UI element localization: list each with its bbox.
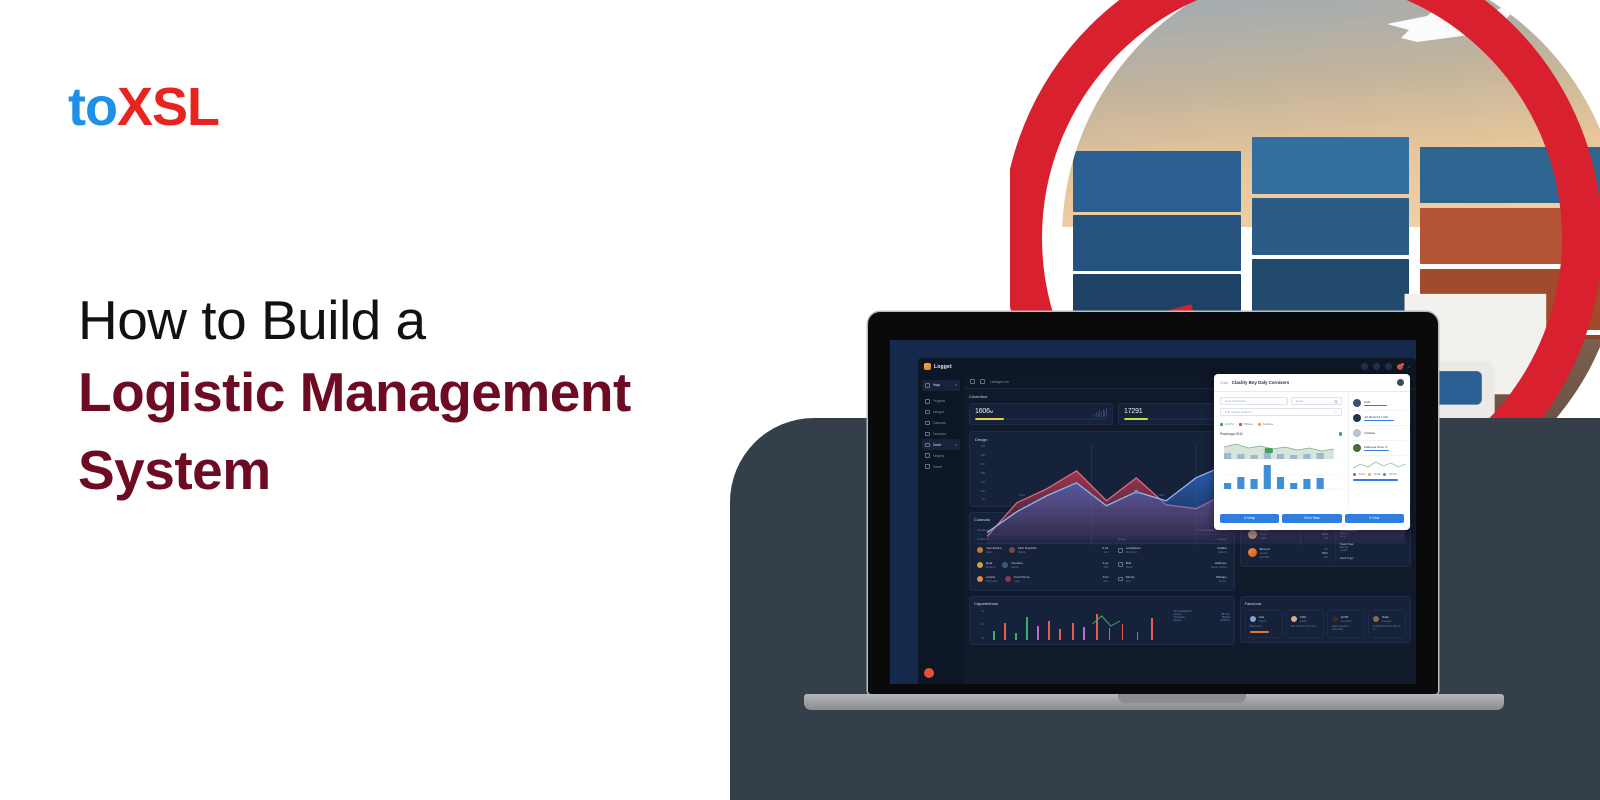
table-row[interactable]: Yani EcbineClanni Stub RrepOksPatrick 5.… — [974, 544, 1111, 558]
status-dot — [1383, 473, 1386, 476]
avatar — [1332, 616, 1338, 622]
sidebar-item-label: Survices — [933, 432, 947, 436]
row-primary: orrphle — [986, 575, 995, 579]
panel-body: Gonr dtorbsqus tomut — [1214, 392, 1410, 510]
avatar — [1353, 414, 1361, 422]
y-tick: 255 — [975, 472, 985, 475]
clarity-overlay-panel: Cnar Claclity Bny Daly Cornixers Gonr dt… — [1214, 374, 1410, 530]
logo-text-sl: SL — [152, 77, 219, 137]
table-row[interactable]: WonliyNtrn WritelpyPuvorn — [1115, 572, 1229, 586]
row-value: 74.0 — [1102, 575, 1108, 579]
heart-icon[interactable]: ♡ — [1333, 410, 1337, 415]
member-sub: Blaad-Dorte — [1250, 625, 1278, 628]
cost-right3: 100 — [1324, 556, 1328, 559]
team-title: Facctorar — [1245, 601, 1406, 606]
avatar — [977, 562, 983, 568]
mini-sparkline — [1353, 459, 1406, 471]
panel-main-column: Gonr dtorbsqus tomut — [1214, 392, 1348, 510]
y-tick: 100 — [975, 490, 985, 493]
row-value: 5.44 — [1102, 546, 1108, 550]
kpi-number: 17291 — [1124, 408, 1142, 415]
avatar — [1291, 616, 1297, 622]
chevron-down-icon: ▾ — [955, 383, 957, 387]
member-name: Ha4 — [1259, 615, 1265, 619]
candles-y-axis: 111411 — [974, 610, 984, 640]
app-name: Logget — [934, 364, 952, 370]
box-icon — [1118, 562, 1123, 567]
status-badge — [1339, 432, 1343, 436]
settings-icon[interactable] — [1373, 363, 1380, 370]
filter-input[interactable]: (c3) Guarty ombous ♡ — [1220, 408, 1342, 416]
clock-icon — [925, 421, 930, 426]
users-icon — [925, 453, 930, 458]
tag-label: Actsdes — [1263, 422, 1274, 426]
row-secondary: Ganri — [1014, 580, 1020, 583]
sidebar-item-keljans[interactable]: Keljans — [922, 450, 960, 461]
sidebar-item-label: Hoja — [933, 383, 940, 387]
team-member-card[interactable]: Cf3dAwalth Mac-Ofinctim Itvm Lota — [1286, 610, 1324, 638]
contact-name: Katbama Ovrer O — [1364, 445, 1388, 449]
row-primary: Stub RrepOks — [1018, 546, 1037, 550]
slide-canvas: toXSL How to Build a Logistic Management… — [0, 0, 1600, 800]
laptop-lid: Logget ▾ — [868, 312, 1438, 694]
panel-title: Claclity Bny Daly Cornixers — [1232, 380, 1289, 385]
candlestick-chart: 111411 — [974, 610, 1230, 640]
show-button[interactable]: Erhnl Stow — [1282, 514, 1341, 523]
avatar — [1373, 616, 1379, 622]
sidebar-item-prognat[interactable]: Prognat — [922, 396, 960, 407]
avatar — [977, 547, 983, 553]
list-item[interactable]: Llufs — [1353, 396, 1406, 411]
notification-badge — [1401, 363, 1404, 366]
tag-label: Prhote — [1244, 422, 1253, 426]
cost-title: Bloomd — [1260, 547, 1270, 551]
row-secondary: Patrick — [1018, 551, 1025, 554]
row-secondary: Pzig Lanan — [986, 580, 998, 583]
avatar — [1009, 547, 1015, 553]
laptop-screen: Logget ▾ — [890, 340, 1416, 684]
team-panel: Facctorar Ha4ruEOTi Blaad-Dorte — [1240, 596, 1411, 650]
kpi-suffix: M — [990, 409, 993, 414]
tag-row: An Pvi Prhote Actsdes — [1220, 419, 1342, 430]
avatar — [1250, 616, 1256, 622]
avatar — [977, 576, 983, 582]
row-primary: Yani Ecbine — [986, 546, 1002, 550]
row-value: Writelpy — [1216, 575, 1227, 579]
row-value-sub: Aoin — [1103, 580, 1108, 583]
breadcrumb[interactable]: Cnar — [1220, 381, 1228, 385]
x-tick: 2010 — [1089, 494, 1095, 501]
member-role: Gaougen — [1382, 620, 1392, 623]
panel-combo-chart — [1220, 439, 1342, 495]
kpi-number: 1606 — [975, 408, 990, 415]
avatar — [1002, 562, 1008, 568]
headline-line-1: How to Build a — [78, 288, 738, 353]
copy-icon[interactable] — [980, 379, 985, 384]
status-dot — [1368, 473, 1371, 476]
member-role: Geomorto — [1341, 620, 1352, 623]
kpi-card[interactable]: 1606M — [969, 403, 1113, 425]
box-icon — [1118, 548, 1123, 553]
status-dot — [1353, 473, 1356, 476]
record-button[interactable] — [924, 668, 934, 678]
row-value-sub: Puvorn — [1219, 580, 1227, 583]
row-primary: Litodlobarh — [1126, 546, 1141, 550]
bell-icon — [925, 464, 930, 469]
side-stat: Certi Cryp — [1340, 554, 1406, 562]
member-progress — [1250, 631, 1270, 633]
candles-trendline — [986, 610, 1170, 640]
panel-chart-plot — [1220, 439, 1342, 495]
panel-header: Cnar Claclity Bny Daly Cornixers — [1214, 374, 1410, 392]
mini-stat-label: 20.01 — [1389, 472, 1397, 476]
y-tick: 330 — [975, 463, 985, 466]
app-brand[interactable]: Logget — [924, 363, 952, 370]
sidebar-item-label: Owert — [933, 465, 943, 469]
home-icon — [925, 383, 930, 388]
sidebar-item-cansors[interactable]: Cansors — [922, 418, 960, 429]
candles-and-team-row: Caparetshars 111411 — [969, 596, 1411, 650]
y-tick: 225 — [975, 445, 985, 448]
panel-footer: A Vetup Erhnl Stow K Clow — [1214, 510, 1410, 527]
contact-name: Llufs — [1364, 400, 1370, 404]
team-member-card[interactable]: OdkeGaougen Eoddrblk Pwoorde Ottcorn np — [1368, 610, 1406, 638]
avatar — [1353, 399, 1361, 407]
dashboard-sidebar: Hoja ▾ Prognat Integra — [918, 375, 964, 684]
laptop-notch — [1118, 694, 1246, 703]
close-button[interactable]: K Clow — [1345, 514, 1404, 523]
app-logo-icon — [924, 363, 931, 370]
member-sub: Eoddrblk Pwoorde Ottcorn np — [1373, 625, 1401, 631]
avatar — [1353, 429, 1361, 437]
logistics-dashboard-app: Logget ▾ — [918, 358, 1416, 684]
table-row[interactable]: orrphlePzig Lanan Krrd ChrmaGanri 74.0Ao… — [974, 572, 1111, 586]
filter-placeholder: (c3) Guarty ombous — [1225, 410, 1252, 414]
sidebar-item-label: Prognat — [933, 399, 946, 403]
list-item[interactable]: Jof Mchorhs f 419 — [1353, 411, 1406, 426]
legend-value: 88 DOrt — [1221, 619, 1230, 622]
setup-button[interactable]: A Vetup — [1220, 514, 1279, 523]
member-role: ruEOTi — [1259, 620, 1266, 623]
side-stat-v2: Lurobbr — [1340, 549, 1406, 552]
sidebar-item-label: Drute — [933, 443, 942, 447]
headline-line-2: Logistic Management — [78, 353, 738, 431]
search-icon[interactable] — [1334, 400, 1338, 404]
row-secondary: Nynah — [1126, 566, 1133, 569]
x-tick: 0194 — [1019, 494, 1025, 501]
logo-text-x: X — [117, 77, 152, 137]
sidebar-item-label: Keljans — [933, 454, 945, 458]
row-value-sub: Dev — [1104, 551, 1108, 554]
laptop-mockup: Logget ▾ — [868, 312, 1438, 702]
mini-stat-label: 10% — [1359, 472, 1365, 476]
search-value: tomut — [1296, 399, 1304, 403]
sidebar-item-owert[interactable]: Owert — [922, 461, 960, 472]
box-icon — [1118, 577, 1123, 582]
chevron-down-icon[interactable]: ▾ — [1408, 365, 1410, 369]
member-role: Awalth — [1300, 620, 1307, 623]
row-value-sub: Vannen Jerkeg — [1211, 566, 1227, 569]
search-input[interactable]: Gonr dtorbsqus — [1220, 397, 1288, 405]
tag-item[interactable]: Actsdes — [1258, 422, 1274, 426]
cost-right2: 10% — [1322, 551, 1328, 555]
row-primary: Brid — [1126, 561, 1131, 565]
row-value: Citddta — [1217, 546, 1227, 550]
sidebar-item-hoja[interactable]: Hoja ▾ — [922, 380, 960, 391]
candlestick-panel: Caparetshars 111411 — [969, 596, 1235, 650]
member-sub: Lodhd Gatulbay Camparha — [1332, 625, 1360, 631]
row-primary: Dela — [986, 561, 992, 565]
kpi-progress-bar — [975, 418, 1107, 420]
sidebar-item-drute[interactable]: Drute ▾ — [922, 439, 960, 450]
print-icon[interactable] — [970, 379, 975, 384]
kpi-value: 1606M — [975, 408, 1107, 415]
row-value: 1.op — [1102, 561, 1108, 565]
sidebar-item-label: Integra — [933, 410, 944, 414]
tag-label: An Pvi — [1225, 422, 1234, 426]
row-secondary: Mrg Jorlen — [1126, 551, 1137, 554]
member-name: EV45 — [1341, 615, 1348, 619]
folder-icon — [925, 399, 930, 404]
chevron-down-icon: ▾ — [955, 443, 957, 447]
kpi-sparkline — [1094, 408, 1107, 417]
team-member-card[interactable]: Ha4ruEOTi Blaad-Dorte — [1245, 610, 1283, 638]
row-primary: Krrd Chrma — [1014, 575, 1030, 579]
search-placeholder: Gonr dtorbsqus — [1225, 399, 1246, 403]
y-tick: 400 — [975, 454, 985, 457]
logo-text-to: to — [68, 77, 117, 137]
row-value-sub: Mokvtzt — [1218, 551, 1226, 554]
panel-chart-header: Prephuga 2011 — [1220, 432, 1342, 436]
contact-name: Vrsdabe — [1364, 431, 1375, 435]
avatar — [1248, 548, 1257, 557]
avatar[interactable] — [1397, 379, 1404, 386]
member-name: Cf3d — [1300, 615, 1306, 619]
help-icon[interactable] — [1361, 363, 1368, 370]
mail-icon[interactable] — [1385, 363, 1392, 370]
tag-item[interactable]: An Pvi — [1220, 422, 1234, 426]
x-tick: 1901 — [1158, 494, 1164, 501]
chart-icon — [925, 432, 930, 437]
team-member-card[interactable]: EV45Geomorto Lodhd Gatulbay Camparha — [1327, 610, 1365, 638]
secondary-search-input[interactable]: tomut — [1291, 397, 1342, 405]
candles-legend: On Guniast N.V Autore48 Ovp OecurtionBlo… — [1174, 610, 1230, 622]
sidebar-item-survices[interactable]: Survices — [922, 429, 960, 440]
row-primary: Oourkne — [1011, 561, 1023, 565]
y-tick: 50 — [975, 498, 985, 501]
grid-icon — [925, 443, 930, 448]
list-item[interactable]: Vrsdabe — [1353, 426, 1406, 441]
tag-item[interactable]: Prhote — [1239, 422, 1253, 426]
headline-line-3: System — [78, 431, 738, 509]
table-row[interactable]: DelaEnstants OourkneEhosty 1.opKllio — [974, 558, 1111, 572]
avatar — [1005, 576, 1011, 582]
cost-sub2: 04/19.98 — [1260, 556, 1269, 559]
member-sub: Mac-Ofinctim Itvm Lota — [1291, 625, 1319, 628]
row-value: Hrditmey — [1215, 561, 1227, 565]
sidebar-item-label: Cansors — [933, 421, 946, 425]
dashboard-topbar: Logget ▾ — [918, 358, 1416, 375]
row-secondary: Clanni — [986, 551, 993, 554]
row-secondary: Ehosty — [1011, 566, 1018, 569]
list-item[interactable]: Katbama Ovrer O — [1353, 441, 1406, 456]
table-row[interactable]: LitodlobarhMrg Jorlen CitddtaMokvtzt — [1115, 544, 1229, 558]
legend-label: Sownn — [1174, 619, 1182, 622]
sidebar-item-integra[interactable]: Integra — [922, 407, 960, 418]
y-axis-labels: 225 400 330 255 175 100 50 — [975, 445, 985, 501]
y-tick: 175 — [975, 481, 985, 484]
avatar — [1353, 444, 1361, 452]
row-value-sub: Kllio — [1104, 566, 1109, 569]
toolbar-label: Lamuyno en — [990, 380, 1009, 384]
row-secondary: Ntrn — [1126, 580, 1131, 583]
row-primary: Wonliy — [1126, 575, 1135, 579]
notification-icon[interactable] — [1397, 364, 1403, 370]
candles-title: Caparetshars — [974, 601, 1230, 606]
table-row[interactable]: BridNynah HrditmeyVannen Jerkeg — [1115, 558, 1229, 572]
panel-contacts-column: Llufs Jof Mchorhs f 419 — [1348, 392, 1410, 510]
mini-stats: 10% D2M 20.01 — [1353, 459, 1406, 481]
toxsl-logo[interactable]: toXSL — [68, 80, 219, 134]
cost-sub: Curoinp — [1260, 552, 1268, 555]
panel-chart-title: Prephuga 2011 — [1220, 432, 1243, 436]
cost-row[interactable]: Bloomd Curoinp 04/19.98 Grll 10% 100 — [1245, 544, 1331, 562]
headline-block: How to Build a Logistic Management Syste… — [78, 288, 738, 509]
mini-stat-label: D2M — [1374, 472, 1380, 476]
member-name: Odke — [1382, 615, 1389, 619]
contact-name: Jof Mchorhs f 419 — [1364, 415, 1388, 419]
row-secondary: Enstants — [986, 566, 995, 569]
plug-icon — [925, 410, 930, 415]
side-stat-label: Certi Cryp — [1340, 556, 1406, 560]
topbar-icon-group: ▾ — [1361, 363, 1410, 370]
